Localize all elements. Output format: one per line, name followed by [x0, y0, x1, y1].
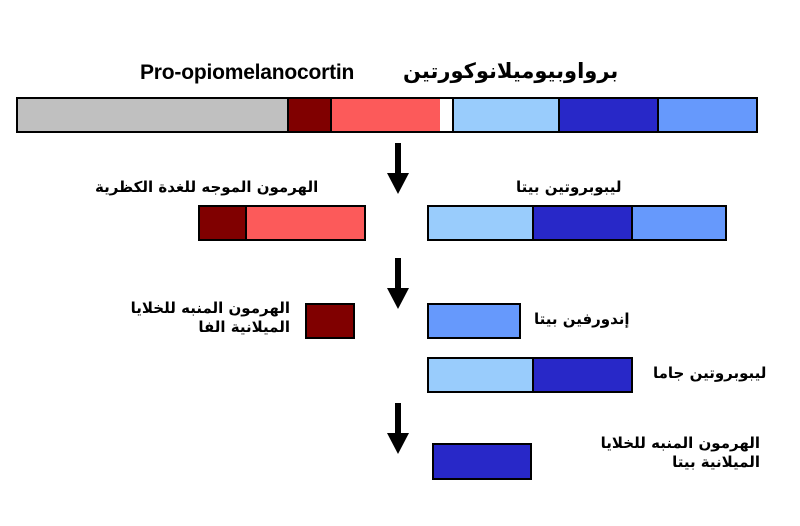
label-beta-msh: الهرمون المنبه للخلايا الميلانية بيتا: [545, 434, 760, 472]
beta-endorphin-bar: [427, 303, 521, 339]
cleavage-arrow-1: [385, 143, 411, 195]
segment-beta-msh-region: [532, 359, 631, 391]
segment-beta-msh-region: [532, 207, 630, 239]
gamma-lipotropin-bar: [427, 357, 633, 393]
label-alpha-msh-line1: الهرمون المنبه للخلايا: [85, 299, 290, 318]
label-acth: الهرمون الموجه للغدة الكظرية: [95, 178, 318, 197]
segment-gamma-lipotropin-light: [429, 207, 532, 239]
pro-opiomelanocortin-bar: [16, 97, 758, 133]
alpha-msh-bar: [305, 303, 355, 339]
label-beta-msh-line2: الميلانية بيتا: [545, 453, 760, 472]
beta-msh-bar: [432, 443, 532, 480]
segment-beta-endorphin-region: [657, 99, 756, 131]
segment-gamma-lipotropin-light: [429, 359, 532, 391]
segment-beta-msh: [434, 445, 530, 478]
segment-alpha-msh-region: [287, 99, 331, 131]
label-alpha-msh-line2: الميلانية الفا: [85, 318, 290, 337]
diagram-title-arabic: برواوبيوميلانوكورتين: [403, 59, 618, 83]
segment-signal-peptide: [18, 99, 287, 131]
segment-spacer: [440, 99, 452, 131]
label-beta-endorphin: إندورفين بيتا: [534, 310, 630, 329]
segment-acth-remainder: [245, 207, 364, 239]
label-beta-lipotropin: ليبوبروتين بيتا: [516, 178, 622, 197]
cleavage-arrow-3: [385, 403, 411, 455]
label-gamma-lipotropin: ليبوبروتين جاما: [653, 364, 766, 383]
segment-acth-region: [330, 99, 439, 131]
segment-alpha-msh: [307, 305, 353, 337]
acth-bar: [198, 205, 366, 241]
segment-gamma-lipotropin-light: [452, 99, 558, 131]
label-beta-msh-line1: الهرمون المنبه للخلايا: [545, 434, 760, 453]
segment-beta-endorphin: [429, 305, 519, 337]
segment-beta-endorphin-region: [631, 207, 725, 239]
pomc-processing-diagram: Pro-opiomelanocortin برواوبيوميلانوكورتي…: [0, 0, 800, 526]
cleavage-arrow-2: [385, 258, 411, 310]
segment-beta-msh-region: [558, 99, 656, 131]
beta-lipotropin-bar: [427, 205, 727, 241]
diagram-title-english: Pro-opiomelanocortin: [140, 61, 354, 85]
label-alpha-msh: الهرمون المنبه للخلايا الميلانية الفا: [85, 299, 290, 337]
segment-alpha-msh-region: [200, 207, 245, 239]
